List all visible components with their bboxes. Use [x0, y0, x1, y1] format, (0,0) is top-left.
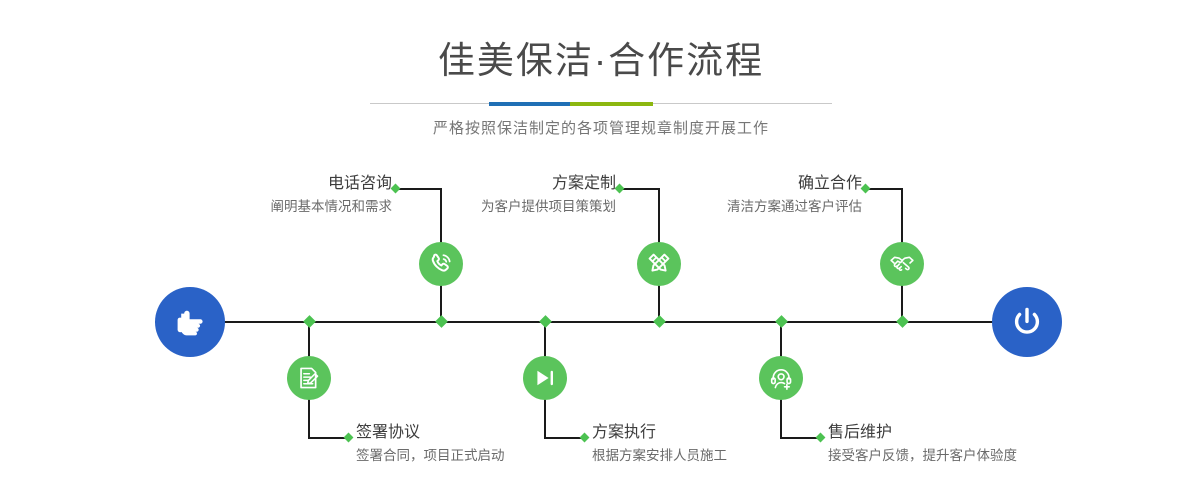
step-desc: 清洁方案通过客户评估 [610, 195, 862, 217]
flow-end-node[interactable] [992, 287, 1062, 357]
step-title: 方案定制 [360, 173, 616, 195]
step-label-top-3: 确立合作 清洁方案通过客户评估 [610, 173, 862, 217]
step-desc: 接受客户反馈，提升客户体验度 [828, 444, 1148, 466]
connector-arm-bottom-1 [308, 437, 348, 439]
step-desc: 为客户提供项目策策划 [360, 195, 616, 217]
timeline-diamond-top-3 [896, 315, 909, 328]
page-subtitle: 严格按照保洁制定的各项管理规章制度开展工作 [0, 106, 1202, 139]
step-label-top-2: 方案定制 为客户提供项目策策划 [360, 173, 616, 217]
divider-segment-green [570, 102, 653, 106]
label-diamond-top-3 [861, 184, 871, 194]
step-title: 确立合作 [610, 173, 862, 195]
play-execute-icon [532, 365, 558, 391]
timeline-diamond-top-1 [435, 315, 448, 328]
step-icon-sign-agreement[interactable] [287, 356, 331, 400]
page-title: 佳美保洁·合作流程 [0, 0, 1202, 84]
document-sign-icon [297, 366, 321, 390]
timeline-main-line [155, 321, 1047, 323]
flow-chart-page: 佳美保洁·合作流程 严格按照保洁制定的各项管理规章制度开展工作 [0, 0, 1202, 502]
timeline-diamond-bottom-1 [303, 315, 316, 328]
step-label-top-1: 电话咨询 阐明基本情况和需求 [120, 173, 392, 217]
pencil-edit-icon [646, 251, 672, 277]
process-flow-diagram: 电话咨询 阐明基本情况和需求 方案定制 为客户提供项目策策划 [0, 140, 1202, 502]
flow-start-node[interactable] [155, 287, 225, 357]
pointing-hand-icon [170, 302, 210, 342]
step-icon-plan-custom[interactable] [637, 242, 681, 286]
step-icon-phone-consult[interactable] [419, 242, 463, 286]
step-desc: 阐明基本情况和需求 [120, 195, 392, 217]
customer-service-icon [769, 366, 794, 391]
timeline-diamond-top-2 [653, 315, 666, 328]
page-header: 佳美保洁·合作流程 严格按照保洁制定的各项管理规章制度开展工作 [0, 0, 1202, 139]
label-diamond-bottom-1 [344, 433, 354, 443]
step-label-bottom-3: 售后维护 接受客户反馈，提升客户体验度 [828, 422, 1148, 466]
timeline-diamond-bottom-3 [775, 315, 788, 328]
power-icon [1007, 302, 1047, 342]
handshake-icon [889, 251, 915, 277]
connector-arm-top-3 [866, 188, 903, 190]
divider-segment-blue [489, 102, 570, 106]
step-icon-confirm-cooperation[interactable] [880, 242, 924, 286]
title-divider [370, 102, 832, 106]
phone-call-icon [428, 251, 454, 277]
timeline-diamond-bottom-2 [539, 315, 552, 328]
step-icon-plan-execute[interactable] [523, 356, 567, 400]
step-title: 售后维护 [828, 422, 1148, 444]
step-icon-after-sales[interactable] [759, 356, 803, 400]
step-title: 电话咨询 [120, 173, 392, 195]
